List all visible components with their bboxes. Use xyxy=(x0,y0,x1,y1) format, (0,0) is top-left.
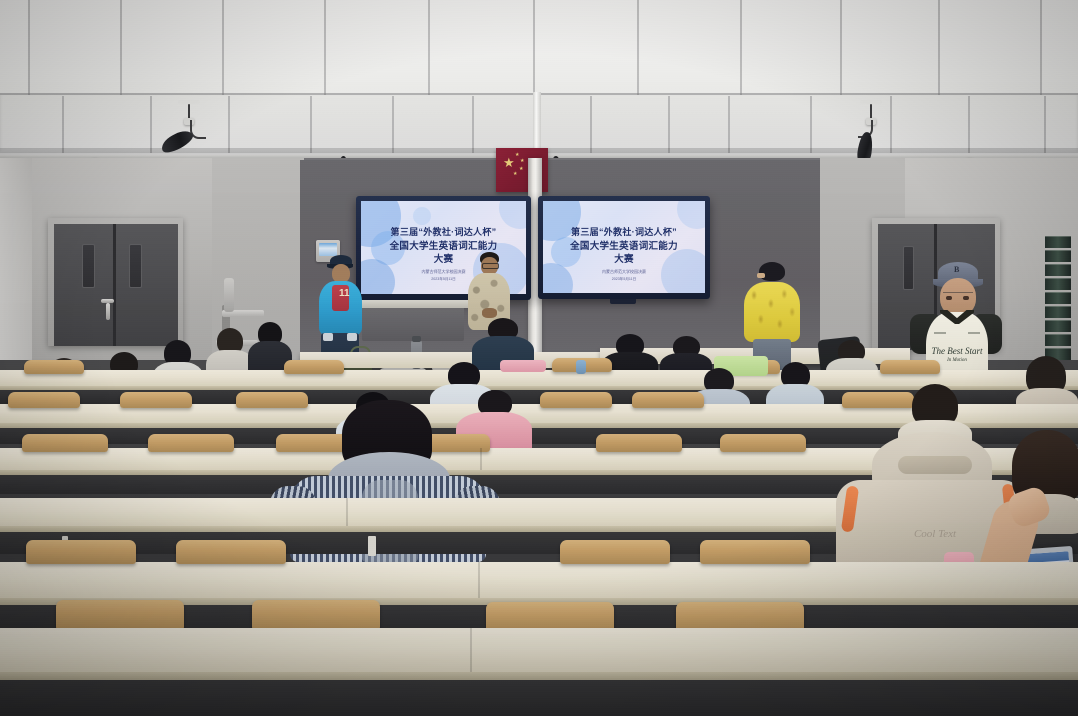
cap-logo: B xyxy=(954,265,959,274)
left-door-center-gap xyxy=(113,224,116,346)
staff-hand xyxy=(347,333,357,341)
podium-top xyxy=(355,300,471,308)
ceiling-seam xyxy=(728,96,730,153)
lecture-hall-chair[interactable] xyxy=(120,392,192,408)
yellow-student-shirt xyxy=(744,282,800,342)
lecture-hall-chair[interactable] xyxy=(8,392,80,408)
staff-hand xyxy=(323,333,333,341)
left-door-window xyxy=(82,244,95,288)
right-screen-mount xyxy=(610,299,636,304)
ceiling-seam xyxy=(310,96,312,153)
ceiling-seam xyxy=(810,96,812,153)
ceiling-seam xyxy=(1044,96,1046,153)
desk-support xyxy=(368,536,376,556)
right-screen-subtitle-line2: 2023年5月11日 xyxy=(543,277,705,282)
hood-fold xyxy=(898,456,972,474)
ceiling-seam xyxy=(222,0,224,95)
right-screen-title-line1: 第三届“外教社·词达人杯” xyxy=(543,225,705,238)
lecture-hall-chair[interactable] xyxy=(284,360,344,374)
ceiling-seam xyxy=(392,96,394,153)
ceiling-seam xyxy=(840,0,842,95)
ceiling-seam xyxy=(428,0,430,95)
ceiling-seam xyxy=(968,96,970,153)
shirt-chest-mark xyxy=(968,332,980,334)
presenter-glasses xyxy=(482,263,499,269)
rack-cell xyxy=(1045,278,1071,290)
desk-top xyxy=(0,562,1078,598)
rack-cell xyxy=(1045,292,1071,304)
staff-jersey-number: 11 xyxy=(339,288,350,299)
student-eye xyxy=(963,296,969,300)
left-screen-title-line2: 全国大学生英语词汇能力 xyxy=(361,238,526,252)
hoodie-embroidery: Cool Text xyxy=(880,528,990,540)
ceiling-seam xyxy=(590,96,592,153)
ceiling-seam xyxy=(472,96,474,153)
lecture-hall-chair[interactable] xyxy=(720,434,806,452)
desk-front xyxy=(0,680,1078,716)
ceiling-seam xyxy=(62,96,64,153)
bottle-cap xyxy=(412,336,421,342)
wall-mounted-rack xyxy=(1045,236,1071,358)
rack-cell xyxy=(1045,236,1071,248)
ceiling-seam xyxy=(324,0,326,95)
ceiling-seam xyxy=(740,0,742,95)
ceiling-seam xyxy=(668,96,670,153)
ceiling-seam xyxy=(228,96,230,153)
right-screen-face: 第三届“外教社·词达人杯” 全国大学生英语词汇能力 大赛 内蒙古师范大学校园决赛… xyxy=(543,201,705,293)
student-in-yellow-shirt xyxy=(744,262,800,370)
ceiling-seam xyxy=(120,0,122,95)
rack-cell xyxy=(1045,334,1071,346)
lecture-hall-chair[interactable] xyxy=(632,392,704,408)
lecture-hall-chair[interactable] xyxy=(700,540,810,564)
rack-cell xyxy=(1045,264,1071,276)
decor-circle xyxy=(413,207,431,225)
side-chair-back xyxy=(224,278,234,312)
rack-cell xyxy=(1045,250,1071,262)
right-screen-subtitle-line1: 内蒙古师范大学校园决赛 xyxy=(543,269,705,275)
lecture-hall-chair[interactable] xyxy=(596,434,682,452)
ceiling-seam xyxy=(890,96,892,153)
desk-seam xyxy=(478,562,480,598)
pink-cloth xyxy=(500,360,546,372)
lecture-hall-chair[interactable] xyxy=(56,600,184,630)
ceiling-seam xyxy=(938,0,940,95)
ceiling-panel-row-upper xyxy=(0,0,1078,95)
tiered-desk-row xyxy=(0,628,1078,716)
right-screen-title-line2: 全国大学生英语词汇能力 xyxy=(543,238,705,252)
presenter-hands xyxy=(482,308,497,318)
right-screen-title-line3: 大赛 xyxy=(543,251,705,265)
student-eye xyxy=(946,296,952,300)
desk-edge xyxy=(0,672,1078,680)
yellow-student-hair xyxy=(759,262,785,281)
ceiling-seam xyxy=(533,0,535,95)
ceiling-seam xyxy=(637,0,639,95)
ceiling-seam xyxy=(1040,0,1042,95)
lecture-hall-chair[interactable] xyxy=(176,540,286,564)
lecture-hall-chair[interactable] xyxy=(22,434,108,452)
lecture-hall-chair[interactable] xyxy=(252,600,380,630)
lecture-hall-chair[interactable] xyxy=(880,360,940,374)
ceiling-seam xyxy=(28,0,30,95)
left-screen-title-line1: 第三届“外教社·词达人杯” xyxy=(361,225,526,238)
lecture-hall-chair[interactable] xyxy=(26,540,136,564)
lecture-hall-chair[interactable] xyxy=(540,392,612,408)
ceiling-seam xyxy=(150,96,152,153)
left-door-handle-shaft[interactable] xyxy=(106,303,110,320)
desk-seam xyxy=(346,498,348,526)
desk-top xyxy=(0,628,1078,672)
yellow-student-ear xyxy=(757,273,765,278)
shirt-main-text: The Best Start xyxy=(926,346,988,356)
blue-water-bottle xyxy=(576,360,586,374)
lecture-hall-chair[interactable] xyxy=(148,434,234,452)
shirt-chest-mark xyxy=(934,332,946,334)
desk-seam xyxy=(470,628,472,672)
lecture-hall-chair[interactable] xyxy=(560,540,670,564)
right-led-screen: 第三届“外教社·词达人杯” 全国大学生英语词汇能力 大赛 内蒙古师范大学校园决赛… xyxy=(538,196,710,299)
lecture-hall-photo: ★ ★ ★ ★ ★ xyxy=(0,0,1078,716)
rack-cell xyxy=(1045,306,1071,318)
left-exit-door[interactable] xyxy=(54,224,178,346)
rack-cell xyxy=(1045,320,1071,332)
left-wall-return xyxy=(0,158,32,373)
lecture-hall-chair[interactable] xyxy=(24,360,84,374)
left-door-window xyxy=(129,244,142,288)
